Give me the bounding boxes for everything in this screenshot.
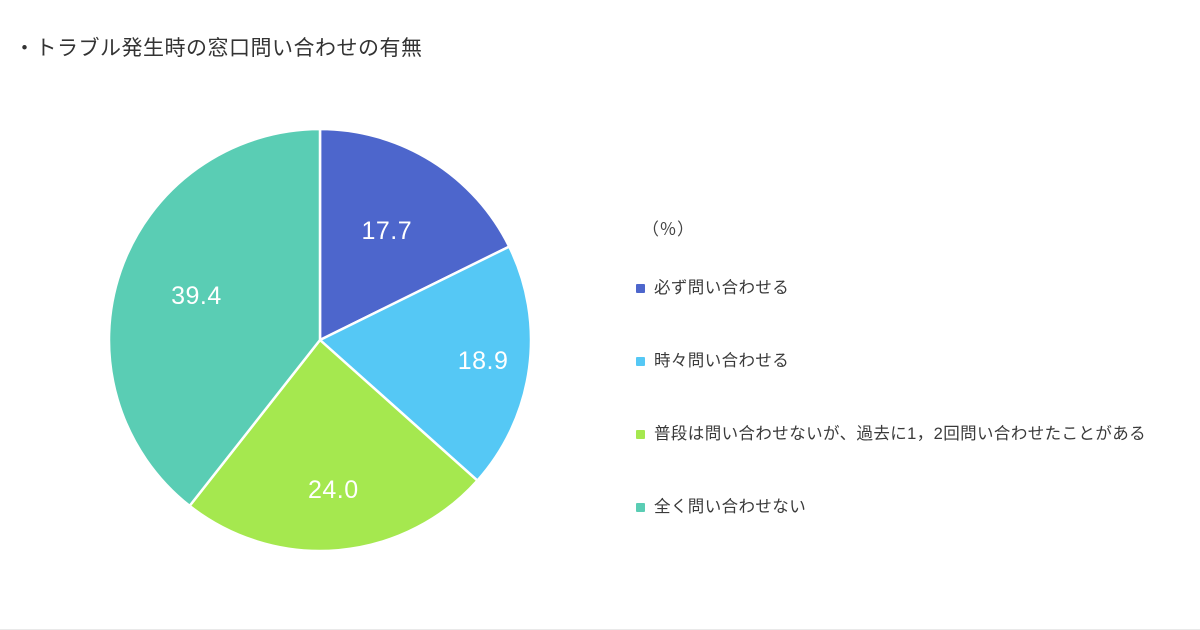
- chart-legend: （％） 必ず問い合わせる時々問い合わせる普段は問い合わせないが、過去に1，2回問…: [636, 220, 1176, 517]
- legend-item-list: 必ず問い合わせる時々問い合わせる普段は問い合わせないが、過去に1，2回問い合わせ…: [636, 278, 1176, 517]
- pie-slice-value-label: 17.7: [361, 217, 412, 245]
- pie-chart: 17.718.924.039.4: [100, 120, 540, 560]
- legend-color-swatch: [636, 357, 645, 366]
- legend-item[interactable]: 時々問い合わせる: [636, 351, 1176, 371]
- legend-item[interactable]: 必ず問い合わせる: [636, 278, 1176, 298]
- legend-item-label: 時々問い合わせる: [654, 351, 789, 371]
- legend-unit-label: （％）: [642, 220, 1176, 240]
- pie-chart-svg: 17.718.924.039.4: [100, 120, 540, 560]
- page-title: ・トラブル発生時の窓口問い合わせの有無: [14, 34, 423, 64]
- pie-slice-value-label: 24.0: [308, 476, 359, 504]
- legend-color-swatch: [636, 430, 645, 439]
- legend-item[interactable]: 全く問い合わせない: [636, 497, 1176, 517]
- legend-item-label: 全く問い合わせない: [654, 497, 806, 517]
- legend-color-swatch: [636, 284, 645, 293]
- legend-item-label: 普段は問い合わせないが、過去に1，2回問い合わせたことがある: [654, 424, 1146, 444]
- legend-color-swatch: [636, 503, 645, 512]
- legend-item-label: 必ず問い合わせる: [654, 278, 789, 298]
- pie-slice-value-label: 39.4: [171, 282, 222, 310]
- pie-slice-value-label: 18.9: [458, 347, 509, 375]
- legend-item[interactable]: 普段は問い合わせないが、過去に1，2回問い合わせたことがある: [636, 424, 1176, 444]
- chart-page: ・トラブル発生時の窓口問い合わせの有無 17.718.924.039.4 （％）…: [0, 0, 1200, 630]
